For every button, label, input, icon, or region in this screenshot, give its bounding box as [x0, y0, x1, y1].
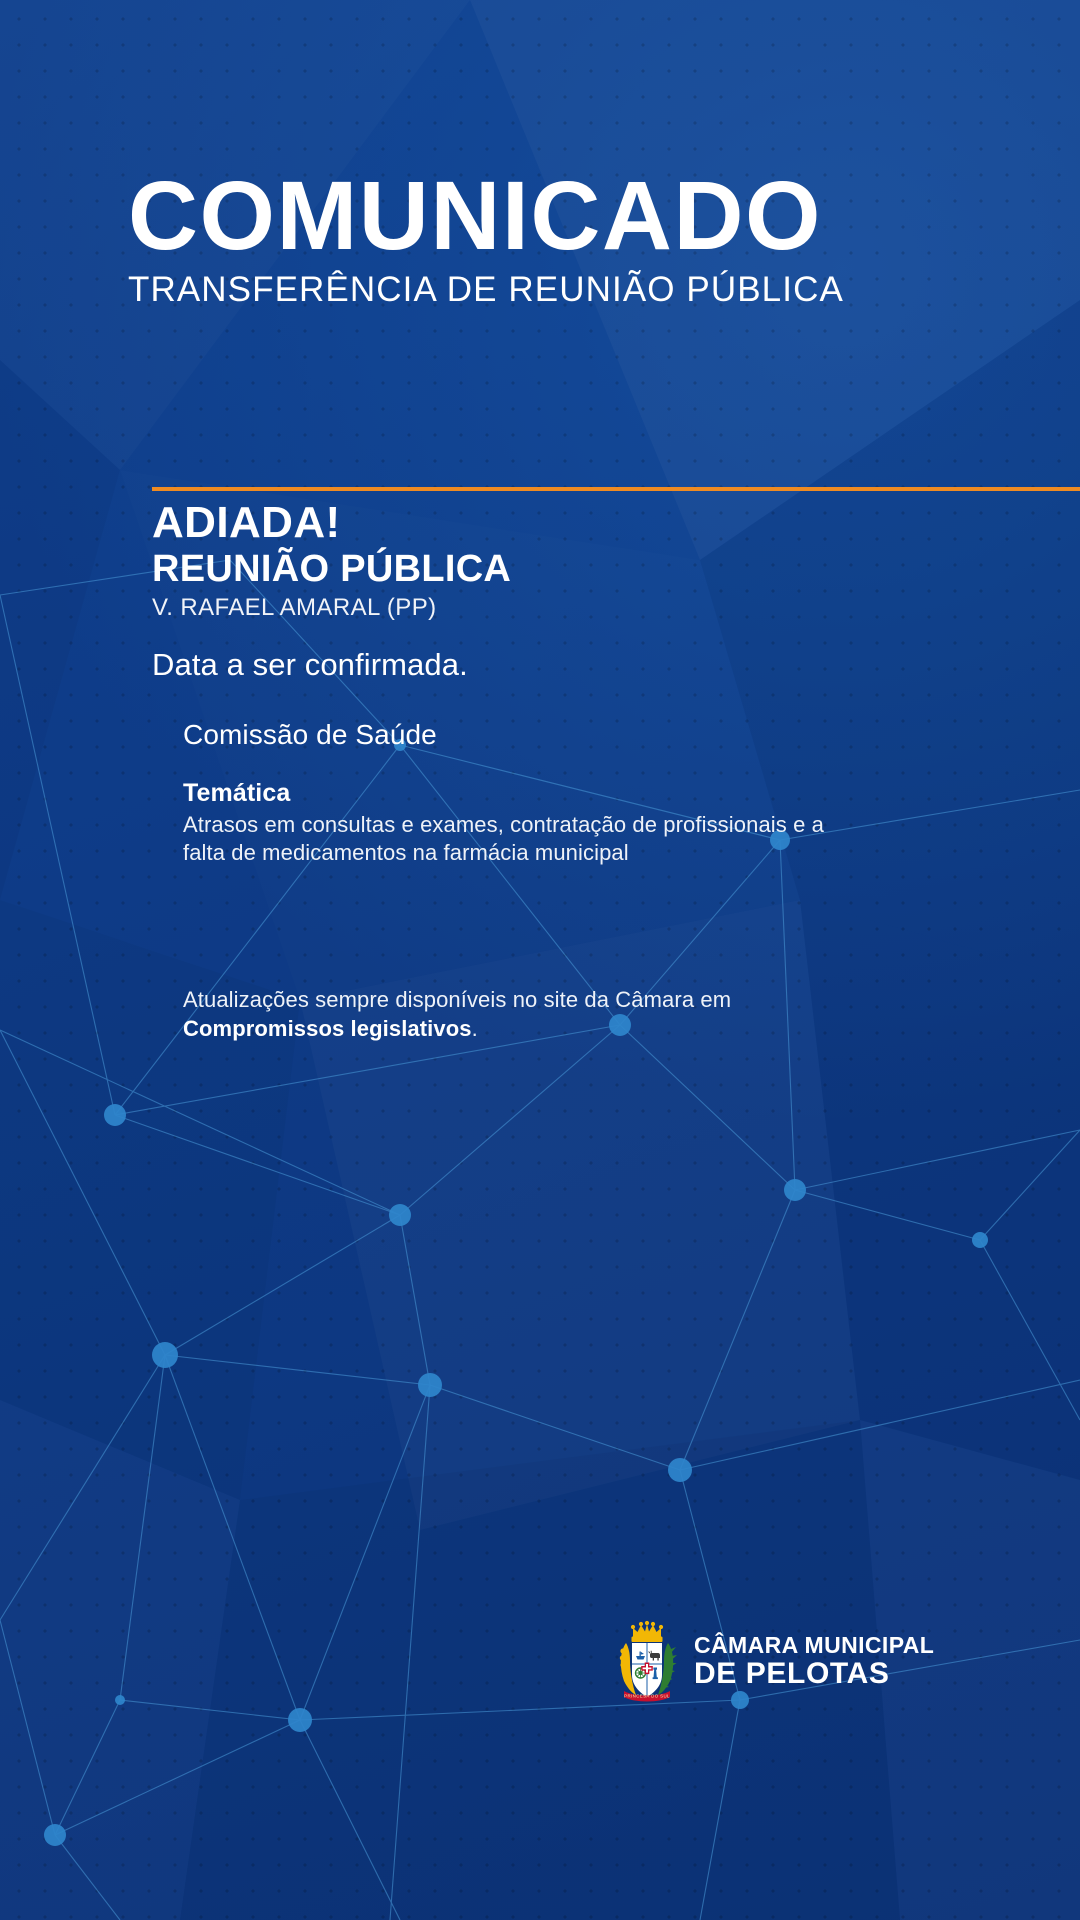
meeting-details: Comissão de Saúde Temática Atrasos em co… — [183, 719, 912, 1043]
poster-header: COMUNICADO TRANSFERÊNCIA DE REUNIÃO PÚBL… — [128, 168, 844, 310]
logo-line-2: DE PELOTAS — [694, 1659, 934, 1689]
updates-note-suffix: . — [472, 1016, 478, 1041]
commission-name: Comissão de Saúde — [183, 719, 912, 751]
logo-line-1: CÂMARA MUNICIPAL — [694, 1634, 934, 1657]
meeting-kind: REUNIÃO PÚBLICA — [152, 548, 912, 591]
announcement-poster: COMUNICADO TRANSFERÊNCIA DE REUNIÃO PÚBL… — [0, 0, 1080, 1920]
pelotas-coat-of-arms-icon: PRINCESA DO SUL — [614, 1617, 680, 1705]
meeting-author: V. RAFAEL AMARAL (PP) — [152, 594, 912, 623]
meeting-date: Data a ser confirmada. — [152, 647, 912, 683]
updates-note-prefix: Atualizações sempre disponíveis no site … — [183, 987, 731, 1012]
updates-note: Atualizações sempre disponíveis no site … — [183, 985, 843, 1043]
accent-divider — [152, 487, 1080, 491]
svg-text:PRINCESA DO SUL: PRINCESA DO SUL — [624, 1693, 670, 1698]
page-subtitle: TRANSFERÊNCIA DE REUNIÃO PÚBLICA — [128, 270, 844, 310]
topic-label: Temática — [183, 779, 912, 808]
announcement-block: ADIADA! REUNIÃO PÚBLICA V. RAFAEL AMARAL… — [152, 500, 912, 1043]
logo-wordmark: CÂMARA MUNICIPAL DE PELOTAS — [694, 1634, 934, 1689]
updates-note-highlight[interactable]: Compromissos legislativos — [183, 1016, 472, 1041]
camara-logo: PRINCESA DO SUL CÂMARA MUNICIPAL DE PELO… — [614, 1617, 934, 1705]
topic-text: Atrasos em consultas e exames, contrataç… — [183, 811, 843, 867]
status-badge: ADIADA! — [152, 500, 912, 547]
page-title: COMUNICADO — [128, 168, 844, 263]
